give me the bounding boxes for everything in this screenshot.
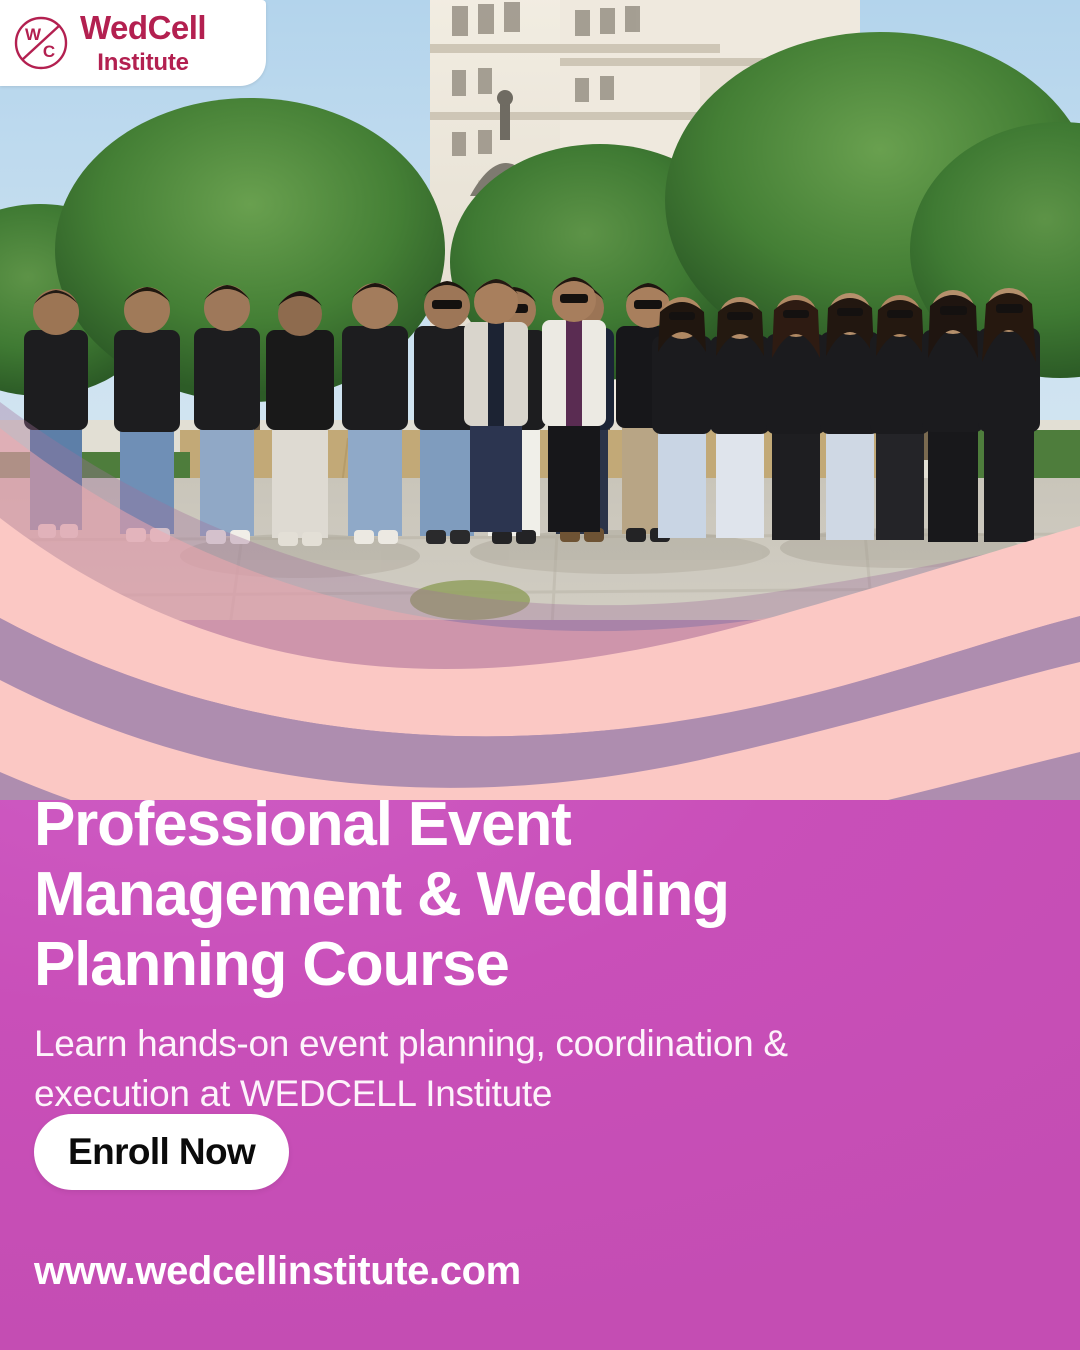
poster-content: Professional Event Management & Wedding … [0, 0, 1080, 1350]
promo-poster: W C WedCell Institute Professional Event… [0, 0, 1080, 1350]
page-title: Professional Event Management & Wedding … [34, 790, 794, 1000]
website-url[interactable]: www.wedcellinstitute.com [34, 1249, 521, 1294]
subtitle-text: Learn hands-on event planning, coordinat… [34, 1019, 854, 1118]
enroll-now-button[interactable]: Enroll Now [34, 1114, 289, 1190]
